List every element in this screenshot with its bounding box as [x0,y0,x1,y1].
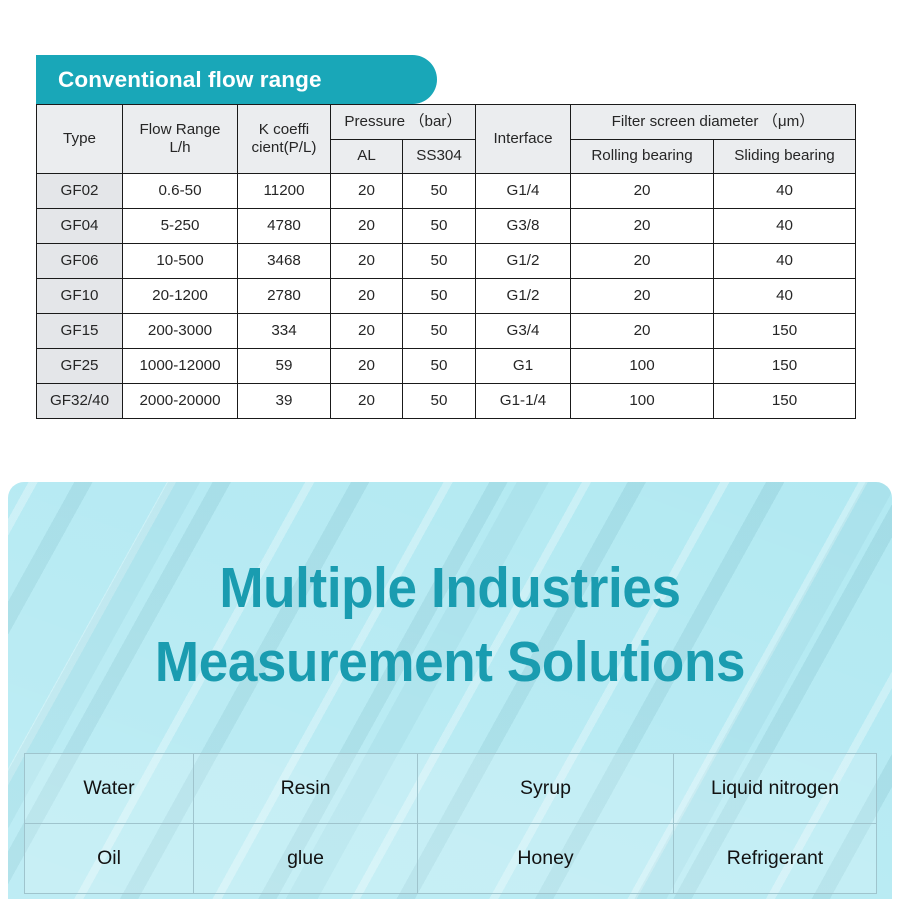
table-header: Type Flow Range L/h K coeffi cient(P/L) … [37,105,856,174]
col-header-flow-range-line1: Flow Range [123,121,237,139]
cell-interface: G1/2 [476,279,571,314]
industry-cell-water: Water [25,754,194,824]
col-header-flow-range: Flow Range L/h [123,105,238,174]
col-header-pressure-al: AL [331,139,403,174]
cell-rolling: 20 [571,244,714,279]
page-headline: Multiple Industries Measurement Solution… [39,551,861,699]
industry-cell-liquid-nitrogen: Liquid nitrogen [674,754,877,824]
cell-ss304: 50 [403,314,476,349]
cell-al: 20 [331,244,403,279]
col-header-rolling-bearing: Rolling bearing [571,139,714,174]
cell-k: 4780 [238,209,331,244]
industry-cell-refrigerant: Refrigerant [674,824,877,894]
table-row: GF06 10-500 3468 20 50 G1/2 20 40 [37,244,856,279]
cell-rolling: 20 [571,209,714,244]
col-header-k-coefficient: K coeffi cient(P/L) [238,105,331,174]
cell-flow: 2000-20000 [123,384,238,419]
conventional-flow-range-banner: Conventional flow range [36,55,437,104]
cell-ss304: 50 [403,244,476,279]
industry-cell-syrup: Syrup [418,754,674,824]
cell-al: 20 [331,384,403,419]
col-header-filter-screen-diameter: Filter screen diameter （μm） [571,105,856,140]
cell-sliding: 150 [714,384,856,419]
cell-k: 59 [238,349,331,384]
cell-type: GF15 [37,314,123,349]
cell-k: 39 [238,384,331,419]
table-body: GF02 0.6-50 11200 20 50 G1/4 20 40 GF04 … [37,174,856,419]
cell-k: 334 [238,314,331,349]
cell-type: GF04 [37,209,123,244]
cell-interface: G1/2 [476,244,571,279]
cell-sliding: 40 [714,209,856,244]
cell-type: GF06 [37,244,123,279]
table-row: GF15 200-3000 334 20 50 G3/4 20 150 [37,314,856,349]
industries-table-body: Water Resin Syrup Liquid nitrogen Oil gl… [25,754,877,894]
cell-interface: G1 [476,349,571,384]
table-row: GF10 20-1200 2780 20 50 G1/2 20 40 [37,279,856,314]
col-header-type: Type [37,105,123,174]
cell-al: 20 [331,279,403,314]
cell-flow: 10-500 [123,244,238,279]
cell-sliding: 150 [714,349,856,384]
cell-rolling: 100 [571,384,714,419]
cell-rolling: 20 [571,279,714,314]
cell-flow: 20-1200 [123,279,238,314]
industry-cell-oil: Oil [25,824,194,894]
table-row: GF02 0.6-50 11200 20 50 G1/4 20 40 [37,174,856,209]
table-row: GF04 5-250 4780 20 50 G3/8 20 40 [37,209,856,244]
cell-rolling: 20 [571,174,714,209]
specification-section: Conventional flow range Type Flow Range … [0,0,900,470]
col-header-pressure: Pressure （bar） [331,105,476,140]
cell-ss304: 50 [403,174,476,209]
specification-table: Type Flow Range L/h K coeffi cient(P/L) … [36,104,856,419]
cell-type: GF25 [37,349,123,384]
col-header-interface: Interface [476,105,571,174]
cell-ss304: 50 [403,384,476,419]
banner-title: Conventional flow range [36,67,322,93]
cell-sliding: 40 [714,244,856,279]
cell-interface: G1/4 [476,174,571,209]
table-row: GF32/40 2000-20000 39 20 50 G1-1/4 100 1… [37,384,856,419]
col-header-k-coefficient-line2: cient(P/L) [238,139,330,157]
cell-sliding: 150 [714,314,856,349]
cell-k: 3468 [238,244,331,279]
cell-flow: 5-250 [123,209,238,244]
cell-interface: G1-1/4 [476,384,571,419]
table-row: GF25 1000-12000 59 20 50 G1 100 150 [37,349,856,384]
cell-flow: 200-3000 [123,314,238,349]
cell-interface: G3/4 [476,314,571,349]
cell-flow: 1000-12000 [123,349,238,384]
industry-cell-glue: glue [194,824,418,894]
cell-rolling: 100 [571,349,714,384]
cell-ss304: 50 [403,209,476,244]
cell-al: 20 [331,314,403,349]
cell-al: 20 [331,349,403,384]
industry-cell-resin: Resin [194,754,418,824]
cell-interface: G3/8 [476,209,571,244]
cell-k: 2780 [238,279,331,314]
cell-sliding: 40 [714,279,856,314]
industries-table: Water Resin Syrup Liquid nitrogen Oil gl… [24,753,877,894]
cell-sliding: 40 [714,174,856,209]
table-row: Oil glue Honey Refrigerant [25,824,877,894]
headline-line-2: Measurement Solutions [39,625,861,699]
col-header-sliding-bearing: Sliding bearing [714,139,856,174]
cell-rolling: 20 [571,314,714,349]
headline-line-1: Multiple Industries [39,551,861,625]
industries-panel: Multiple Industries Measurement Solution… [8,482,892,899]
cell-flow: 0.6-50 [123,174,238,209]
col-header-flow-range-line2: L/h [123,139,237,157]
cell-type: GF10 [37,279,123,314]
col-header-pressure-ss304: SS304 [403,139,476,174]
table-row: Water Resin Syrup Liquid nitrogen [25,754,877,824]
cell-al: 20 [331,209,403,244]
header-row-top: Type Flow Range L/h K coeffi cient(P/L) … [37,105,856,140]
cell-ss304: 50 [403,279,476,314]
col-header-k-coefficient-line1: K coeffi [238,121,330,139]
cell-k: 11200 [238,174,331,209]
cell-type: GF32/40 [37,384,123,419]
industry-cell-honey: Honey [418,824,674,894]
cell-al: 20 [331,174,403,209]
cell-type: GF02 [37,174,123,209]
cell-ss304: 50 [403,349,476,384]
